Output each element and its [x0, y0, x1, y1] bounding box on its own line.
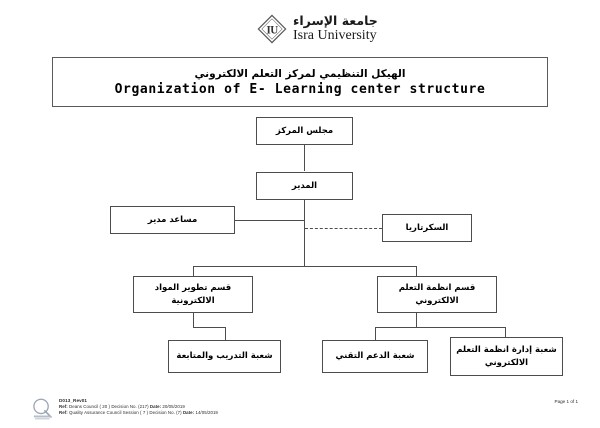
footer-ref-line-2: Ref: Quality Assurance Council Session (… — [59, 410, 218, 416]
edge-bus-to-systems — [416, 266, 417, 276]
footer-ref-1-label: Ref: — [59, 404, 68, 409]
node-assistant-director: مساعد مدير — [110, 206, 235, 234]
edge-director-assistant — [235, 220, 305, 221]
quality-seal-icon — [30, 396, 56, 422]
node-materials-department: قسم تطوير المواد الالكترونية — [133, 276, 253, 313]
edge-council-director — [304, 145, 305, 171]
footer-ref-2-text: Quality Assurance Council Session ( 7 ) … — [69, 410, 182, 415]
node-secretariat: السكرتاريا — [382, 214, 472, 242]
node-systems-admin-division: شعبة إدارة انظمة التعلم الالكتروني — [450, 337, 563, 376]
edge-materials-bus — [193, 327, 225, 328]
edge-systems-down — [416, 313, 417, 327]
footer-ref-1-date: 20/05/2019 — [162, 404, 184, 409]
chart-title-english: Organization of E- Learning center struc… — [115, 82, 486, 97]
node-support-division: شعبة الدعم التقني — [322, 340, 428, 373]
document-page: I U جامعة الإسراء Isra University الهيكل… — [0, 0, 600, 428]
iu-diamond-logo-icon: I U — [255, 12, 289, 46]
logo-wordmark: جامعة الإسراء Isra University — [293, 15, 378, 43]
footer-page-number: Page 1 of 1 — [555, 399, 579, 404]
university-logo: I U جامعة الإسراء Isra University — [255, 12, 378, 46]
edge-bus-to-support — [375, 327, 376, 340]
footer-ref-1-text: Deans Council ( 20 ) Decision No. (217) — [69, 404, 149, 409]
edge-director-trunk — [304, 200, 305, 266]
svg-text:U: U — [270, 25, 278, 37]
chart-title-box: الهيكل التنظيمي لمركز التعلم الالكتروني … — [52, 57, 548, 107]
footer-ref-2-date: 14/05/2019 — [195, 410, 217, 415]
logo-name-english: Isra University — [293, 29, 378, 43]
node-systems-department: قسم انظمة التعلم الالكتروني — [377, 276, 497, 313]
edge-materials-down — [193, 313, 194, 327]
edge-director-secretary-dashed — [305, 228, 382, 229]
footer-ref-2-date-label: Date: — [183, 410, 194, 415]
footer-ref-2-label: Ref: — [59, 410, 68, 415]
footer-ref-1-date-label: Date: — [150, 404, 161, 409]
logo-name-arabic: جامعة الإسراء — [293, 15, 378, 28]
edge-systems-bus — [375, 327, 505, 328]
edge-bus-to-training — [225, 327, 226, 340]
chart-title-arabic: الهيكل التنظيمي لمركز التعلم الالكتروني — [195, 68, 406, 80]
footer-reference-block: D013_Rev01 Ref: Deans Council ( 20 ) Dec… — [59, 398, 218, 416]
node-center-council: مجلس المركز — [256, 117, 353, 145]
edge-bus-to-materials — [193, 266, 194, 276]
node-training-division: شعبة التدريب والمتابعة — [168, 340, 281, 373]
edge-department-bus — [193, 266, 416, 267]
node-director: المدير — [256, 172, 353, 200]
